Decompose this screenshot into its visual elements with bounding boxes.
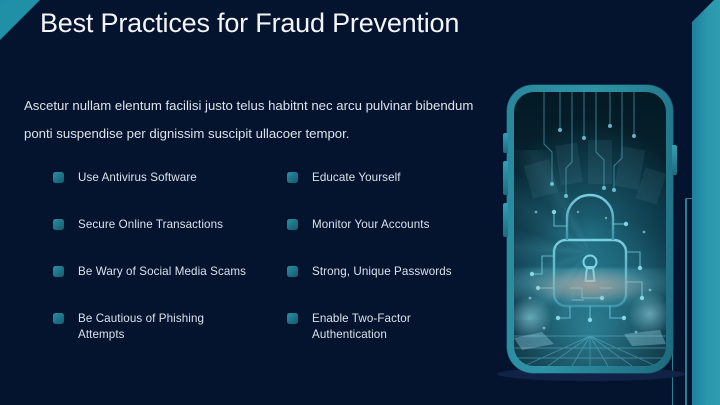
square-bullet-icon	[287, 313, 298, 324]
intro-paragraph: Ascetur nullam elentum facilisi justo te…	[24, 92, 486, 148]
square-bullet-icon	[53, 313, 64, 324]
list-item-label: Strong, Unique Passwords	[312, 264, 487, 280]
phone-side-button-icon	[503, 203, 508, 237]
best-practices-right-column: Educate Yourself Monitor Your Accounts S…	[287, 170, 487, 358]
right-edge-teal-band	[692, 0, 720, 405]
list-item: Educate Yourself	[287, 170, 487, 210]
list-item-label: Be Wary of Social Media Scams	[78, 264, 253, 280]
square-bullet-icon	[53, 266, 64, 277]
list-item: Secure Online Transactions	[53, 217, 253, 257]
list-item: Use Antivirus Software	[53, 170, 253, 210]
smartphone-illustration	[507, 85, 673, 373]
list-item: Monitor Your Accounts	[287, 217, 487, 257]
list-item: Be Cautious of Phishing Attempts	[53, 311, 253, 351]
list-item-label: Enable Two-Factor Authentication	[312, 311, 487, 343]
phone-power-button-icon	[672, 145, 677, 175]
best-practices-left-column: Use Antivirus Software Secure Online Tra…	[53, 170, 253, 358]
square-bullet-icon	[287, 219, 298, 230]
phone-screen	[514, 92, 666, 366]
list-item: Be Wary of Social Media Scams	[53, 264, 253, 304]
horizon-glow-decoration	[514, 268, 666, 328]
list-item-label: Secure Online Transactions	[78, 217, 253, 233]
square-bullet-icon	[53, 219, 64, 230]
list-item: Strong, Unique Passwords	[287, 264, 487, 304]
list-item: Enable Two-Factor Authentication	[287, 311, 487, 351]
slide-root: Best Practices for Fraud Prevention Asce…	[0, 0, 720, 405]
square-bullet-icon	[287, 266, 298, 277]
square-bullet-icon	[53, 172, 64, 183]
square-bullet-icon	[287, 172, 298, 183]
list-item-label: Be Cautious of Phishing Attempts	[78, 311, 253, 343]
phone-side-button-icon	[503, 133, 508, 153]
list-item-label: Educate Yourself	[312, 170, 487, 186]
phone-side-button-icon	[503, 161, 508, 195]
page-title: Best Practices for Fraud Prevention	[40, 8, 459, 39]
list-item-label: Monitor Your Accounts	[312, 217, 487, 233]
list-item-label: Use Antivirus Software	[78, 170, 253, 186]
